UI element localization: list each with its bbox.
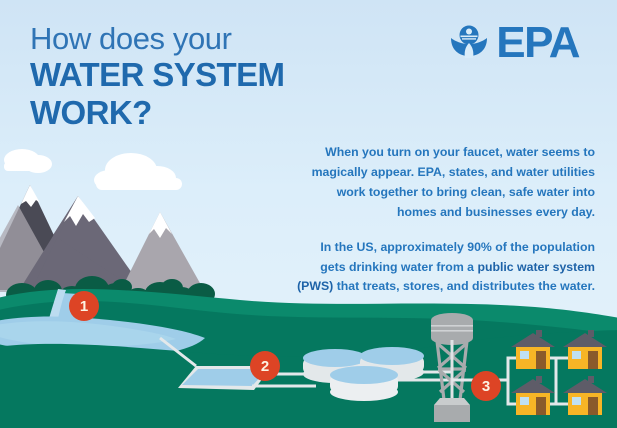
tower-base-building	[434, 405, 470, 422]
copy-paragraph-1: When you turn on your faucet, water seem…	[295, 143, 595, 223]
copy-p2-part2: that treats, stores, and distributes the…	[333, 279, 595, 293]
tower-base-roof	[434, 398, 470, 405]
cloud-group	[4, 149, 182, 190]
body-copy: When you turn on your faucet, water seem…	[295, 143, 595, 297]
epa-logo: EPA	[446, 20, 579, 66]
infographic-canvas: How does your WATER SYSTEM WORK? EPA Whe…	[0, 0, 617, 428]
copy-paragraph-2: In the US, approximately 90% of the popu…	[295, 238, 595, 298]
step-badge-2[interactable]: 2	[250, 351, 280, 381]
cloud-left	[4, 149, 52, 173]
tower-band-2	[431, 330, 473, 332]
tank-front-center	[330, 366, 398, 401]
tower-band-1	[431, 325, 473, 327]
epa-seal-icon	[446, 20, 492, 66]
cloud-right	[94, 153, 182, 190]
step-badge-1[interactable]: 1	[69, 291, 99, 321]
step-badge-3[interactable]: 3	[471, 371, 501, 401]
mountain-group	[0, 185, 205, 293]
epa-wordmark: EPA	[496, 21, 579, 65]
